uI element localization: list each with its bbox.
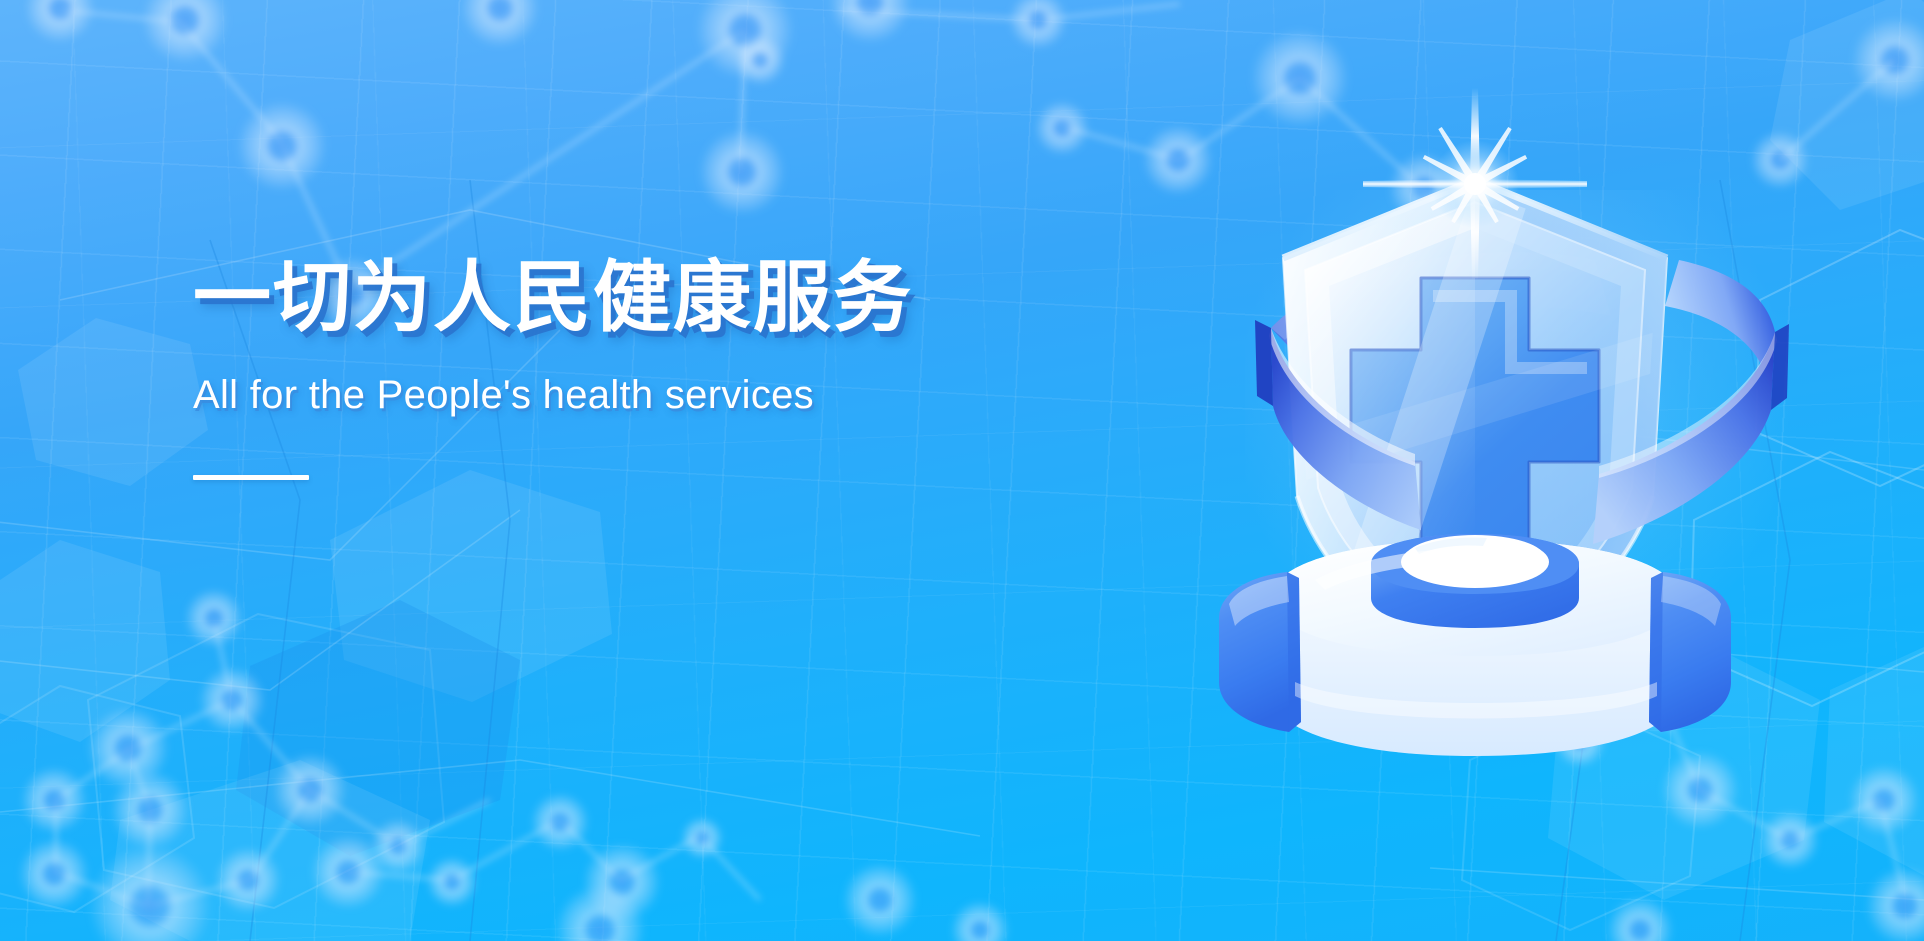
health-banner: .hexF{fill:#ffffff;fill-opacity:.085;} .… [0, 0, 1924, 941]
title-divider [193, 475, 309, 480]
page-title: 一切为人民健康服务 [193, 255, 953, 339]
medical-shield-illustration [1175, 110, 1775, 850]
copy-block: 一切为人民健康服务 All for the People's health se… [193, 255, 953, 480]
pedestal-base [1219, 534, 1731, 756]
page-subtitle: All for the People's health services [193, 373, 953, 417]
